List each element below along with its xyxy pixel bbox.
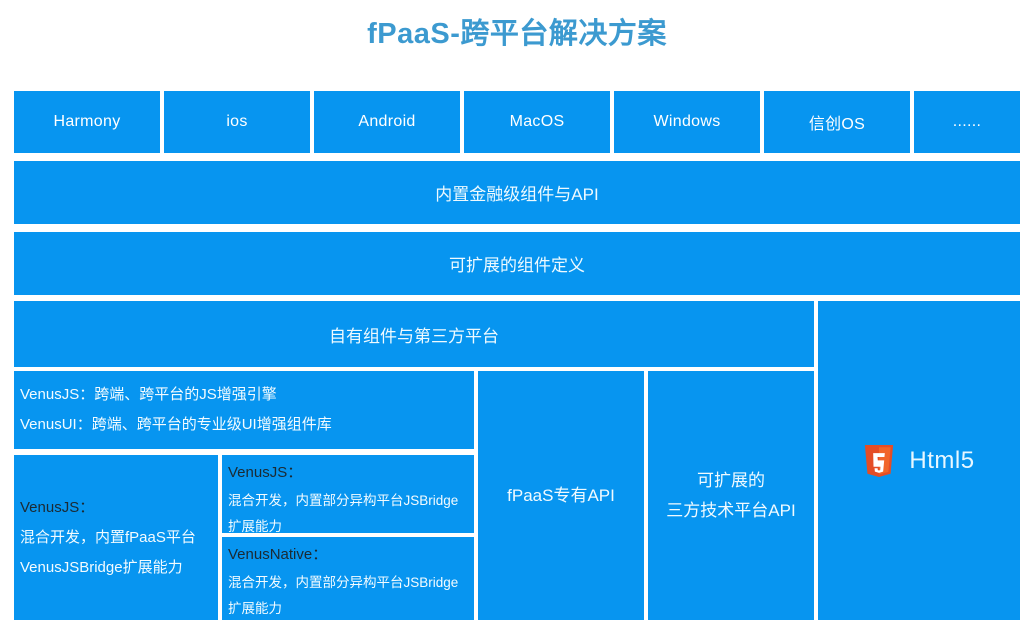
- venusnative-heterogeneous-line2: 扩展能力: [228, 596, 468, 622]
- venus-engines-block[interactable]: VenusJS：跨端、跨平台的JS增强引擎 VenusUI：跨端、跨平台的专业级…: [14, 371, 474, 449]
- venusui-engine-line: VenusUI：跨端、跨平台的专业级UI增强组件库: [20, 410, 466, 440]
- venusnative-heterogeneous-line1: 混合开发，内置部分异构平台JSBridge: [228, 570, 468, 596]
- third-party-tech-api-column[interactable]: 可扩展的 三方技术平台API: [648, 371, 814, 620]
- os-cell-label: ......: [953, 113, 981, 131]
- bar-label: 可扩展的组件定义: [449, 251, 585, 276]
- os-cell-harmony[interactable]: Harmony: [14, 91, 160, 153]
- os-cell-label: Harmony: [53, 113, 120, 131]
- third-party-tech-api-line1: 可扩展的: [697, 466, 765, 496]
- venusjs-heterogeneous-heading: VenusJS：: [228, 458, 468, 488]
- html5-icon: [863, 442, 895, 480]
- page-title: fPaaS-跨平台解决方案: [0, 14, 1034, 54]
- bar-own-and-third-party-platform[interactable]: 自有组件与第三方平台: [14, 301, 814, 367]
- os-cell-label: MacOS: [510, 113, 565, 131]
- venusjs-hybrid-fpaas-block[interactable]: VenusJS： 混合开发，内置fPaaS平台 VenusJSBridge扩展能…: [14, 455, 218, 620]
- venus-hybrid-stack: VenusJS： 混合开发，内置部分异构平台JSBridge 扩展能力 Venu…: [222, 455, 474, 620]
- venusjs-hybrid-line1: 混合开发，内置fPaaS平台: [20, 523, 210, 553]
- os-cell-xinchuangos[interactable]: 信创OS: [764, 91, 910, 153]
- fpaas-proprietary-api-label: fPaaS专有API: [507, 481, 615, 511]
- venusnative-heterogeneous-heading: VenusNative：: [228, 540, 468, 570]
- venusjs-heterogeneous-line1: 混合开发，内置部分异构平台JSBridge: [228, 488, 468, 514]
- venusjs-hybrid-line2: VenusJSBridge扩展能力: [20, 553, 210, 583]
- bar-extensible-component-definition[interactable]: 可扩展的组件定义: [14, 232, 1020, 295]
- venusjs-heterogeneous-block[interactable]: VenusJS： 混合开发，内置部分异构平台JSBridge 扩展能力: [222, 455, 474, 533]
- os-cell-label: ios: [226, 113, 247, 131]
- os-cell-ios[interactable]: ios: [164, 91, 310, 153]
- os-cell-label: Android: [358, 113, 415, 131]
- venusjs-engine-line: VenusJS：跨端、跨平台的JS增强引擎: [20, 380, 466, 410]
- html5-label: Html5: [909, 447, 974, 475]
- third-party-tech-api-line2: 三方技术平台API: [666, 496, 795, 526]
- os-cell-label: 信创OS: [809, 110, 865, 134]
- venusnative-heterogeneous-block[interactable]: VenusNative： 混合开发，内置部分异构平台JSBridge 扩展能力: [222, 537, 474, 620]
- os-cell-macos[interactable]: MacOS: [464, 91, 610, 153]
- bar-label: 自有组件与第三方平台: [329, 322, 499, 347]
- os-cell-more[interactable]: ......: [914, 91, 1020, 153]
- venusjs-hybrid-heading: VenusJS：: [20, 493, 210, 523]
- os-cell-label: Windows: [653, 113, 720, 131]
- bar-label: 内置金融级组件与API: [435, 180, 598, 205]
- fpaas-proprietary-api-column[interactable]: fPaaS专有API: [478, 371, 644, 620]
- diagram-root: fPaaS-跨平台解决方案 Harmony ios Android MacOS …: [0, 0, 1034, 634]
- os-cell-windows[interactable]: Windows: [614, 91, 760, 153]
- html5-content: Html5: [818, 301, 1020, 620]
- bar-builtin-financial-components-api[interactable]: 内置金融级组件与API: [14, 161, 1020, 224]
- html5-column[interactable]: Html5: [818, 301, 1020, 620]
- os-cell-android[interactable]: Android: [314, 91, 460, 153]
